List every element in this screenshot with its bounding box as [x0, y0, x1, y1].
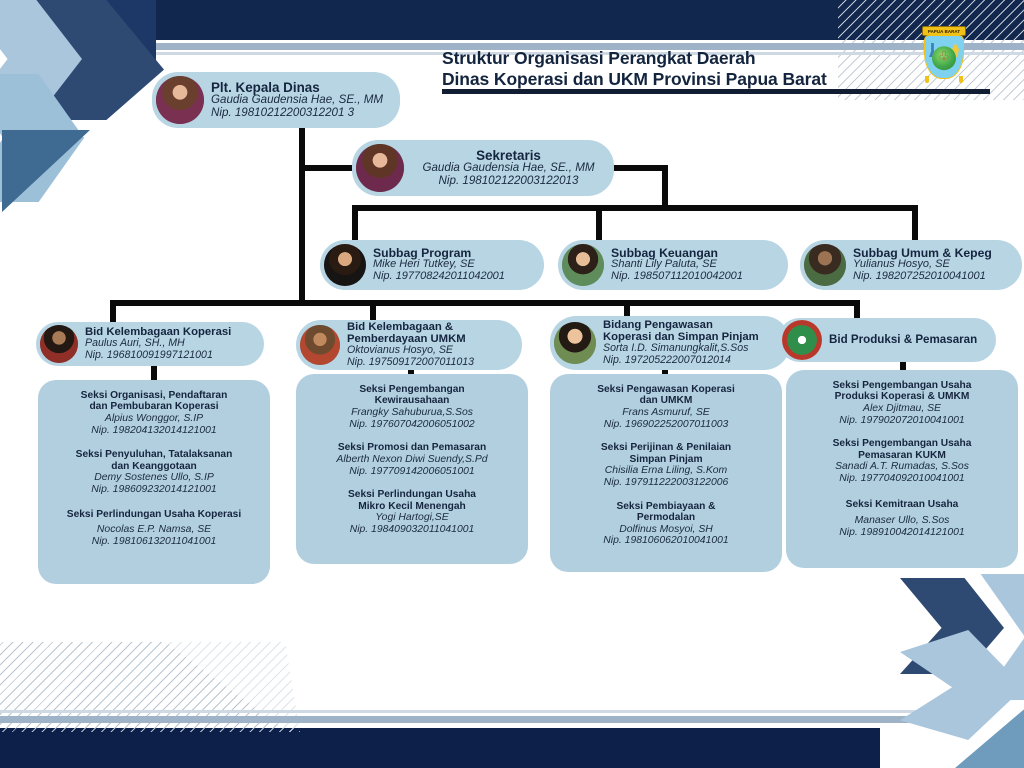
seksi-item: Seksi Pengembangan Usaha Produksi Kopera… [793, 380, 1011, 426]
seksi-panel-produksi-pemasaran: Seksi Pengembangan Usaha Produksi Kopera… [786, 370, 1018, 568]
connector-kepala-to-sekretaris [299, 165, 355, 171]
node-text: Plt. Kepala Dinas Gaudia Gaudensia Hae, … [204, 81, 400, 120]
avatar [804, 244, 846, 286]
seksi-title-line1: Seksi Organisasi, Pendaftaran [45, 390, 263, 401]
chevron-dark-right [900, 578, 1004, 674]
chevron-steel-right [955, 700, 1024, 768]
seksi-person-nip: Nip. 198910042014121001 [793, 527, 1011, 539]
emblem-bird-icon: ♧ [938, 50, 950, 63]
hatch-pattern-bottom-left-light [0, 642, 300, 732]
seksi-title-line1: Seksi Penyuluhan, Tatalaksanan [45, 449, 263, 460]
seksi-person-name: Alex Djitmau, SE [793, 403, 1011, 415]
seksi-item: Seksi Kemitraan Usaha Manaser Ullo, S.So… [793, 499, 1011, 539]
slide-canvas: Struktur Organisasi Perangkat Daerah Din… [0, 0, 1024, 768]
seksi-person-nip: Nip. 197607042006051002 [303, 419, 521, 431]
connector-subbag-bus [352, 205, 918, 211]
node-name: Sorta I.D. Simanungkalit,S.Sos [603, 343, 782, 354]
seksi-person-nip: Nip. 198106132011041001 [45, 536, 263, 548]
node-subbag-umum-kepeg[interactable]: Subbag Umum & Kepeg Yulianus Hosyo, SE N… [800, 240, 1022, 290]
papua-barat-emblem-icon: PAPUA BARAT ♧ [916, 26, 972, 86]
chevron-dark-left [36, 0, 164, 120]
title-underline [442, 89, 990, 94]
seksi-title-line1: Seksi Pengembangan Usaha [793, 438, 1011, 449]
avatar [356, 144, 404, 192]
node-nip: Nip. 197509172007011013 [347, 357, 514, 368]
node-plt-kepala-dinas[interactable]: Plt. Kepala Dinas Gaudia Gaudensia Hae, … [152, 72, 400, 128]
bottom-rule-light [0, 710, 916, 713]
node-role: Plt. Kepala Dinas [211, 81, 392, 95]
seksi-item: Seksi Pembiayaan & Permodalan Dolfinus M… [557, 501, 775, 547]
seksi-title-line2: dan Keanggotaan [45, 461, 263, 472]
chevron-steel-left [2, 130, 90, 212]
seksi-person-name: Dolfinus Mosyoi, SH [557, 524, 775, 536]
emblem-feet [922, 76, 966, 84]
connector-subbag-2-drop [596, 205, 602, 245]
chevron-light-left-lower [0, 74, 84, 202]
emblem-shield: ♧ [924, 35, 964, 79]
node-text: Subbag Keuangan Shanti Lily Paluta, SE N… [604, 247, 788, 283]
avatar [156, 76, 204, 124]
seksi-title-line1: Seksi Pengawasan Koperasi [557, 384, 775, 395]
node-sekretaris[interactable]: Sekretaris Gaudia Gaudensia Hae, SE., MM… [352, 140, 614, 196]
node-nip: Nip. 196810091997121001 [85, 350, 256, 361]
seksi-title-line2: Mikro Kecil Menengah [303, 501, 521, 512]
seksi-item: Seksi Promosi dan Pemasaran Alberth Nexo… [303, 442, 521, 477]
seksi-person-name: Alberth Nexon Diwi Suendy,S.Pd [303, 454, 521, 466]
node-text: Subbag Umum & Kepeg Yulianus Hosyo, SE N… [846, 247, 1022, 283]
seksi-person-nip: Nip. 198609232014121001 [45, 484, 263, 496]
seksi-person-nip: Nip. 198409032011041001 [303, 524, 521, 536]
node-name: Gaudia Gaudensia Hae, SE., MM [411, 162, 606, 175]
bottom-rule [0, 716, 916, 723]
avatar [40, 325, 78, 363]
seksi-title-line1: Seksi Perijinan & Penilaian [557, 442, 775, 453]
node-bid-kelembagaan-koperasi[interactable]: Bid Kelembagaan Koperasi Paulus Auri, SH… [36, 322, 264, 366]
node-nip: Nip. 197708242011042001 [373, 271, 536, 283]
avatar [300, 325, 340, 365]
seksi-title-line2: Permodalan [557, 512, 775, 523]
seksi-panel-kelembagaan-umkm: Seksi Pengembangan Kewirausahaan Frangky… [296, 374, 528, 564]
avatar [562, 244, 604, 286]
node-text: Bid Kelembagaan Koperasi Paulus Auri, SH… [78, 327, 264, 361]
connector-subbag-3-drop [912, 205, 918, 245]
seksi-item: Seksi Pengembangan Kewirausahaan Frangky… [303, 384, 521, 430]
page-title: Struktur Organisasi Perangkat Daerah Din… [442, 48, 912, 90]
node-role-line1: Bidang Pengawasan [603, 320, 782, 332]
node-text: Subbag Program Mike Heri Tutkey, SE Nip.… [366, 247, 544, 283]
node-nip: Nip. 198102122003122013 [411, 175, 606, 188]
seksi-title-line1: Seksi Pengembangan [303, 384, 521, 395]
seksi-person-nip: Nip. 196902252007011003 [557, 419, 775, 431]
seksi-item: Seksi Perlindungan Usaha Koperasi Nocola… [45, 509, 263, 548]
chevron-light-right [900, 630, 1024, 740]
title-line-2: Dinas Koperasi dan UKM Provinsi Papua Ba… [442, 69, 912, 90]
node-bid-kelembagaan-pemberdayaan-umkm[interactable]: Bid Kelembagaan & Pemberdayaan UMKM Okto… [296, 320, 522, 370]
node-text: Sekretaris Gaudia Gaudensia Hae, SE., MM… [404, 149, 614, 188]
seksi-person-nip: Nip. 198204132014121001 [45, 425, 263, 437]
seksi-title-line1: Seksi Pembiayaan & [557, 501, 775, 512]
seksi-person-name: Manaser Ullo, S.Sos [793, 515, 1011, 527]
seksi-person-name: Chisilia Erna Liling, S.Kom [557, 465, 775, 477]
seksi-title-line2: Produksi Koperasi & UMKM [793, 391, 1011, 402]
chevron-light-left-upper [0, 0, 82, 118]
avatar [324, 244, 366, 286]
seksi-person-nip: Nip. 197902072010041001 [793, 415, 1011, 427]
avatar [554, 322, 596, 364]
seksi-title-line1: Seksi Promosi dan Pemasaran [303, 442, 521, 453]
connector-sekretaris-down [662, 165, 668, 210]
seksi-title-line1: Seksi Perlindungan Usaha Koperasi [45, 509, 263, 520]
node-name: Oktovianus Hosyo, SE [347, 345, 514, 356]
seksi-person-nip: Nip. 197911222003122006 [557, 477, 775, 489]
seksi-title-line1: Seksi Pengembangan Usaha [793, 380, 1011, 391]
seksi-person-name: Frangky Sahuburua,S.Sos [303, 407, 521, 419]
seksi-person-name: Demy Sostenes Ullo, S.IP [45, 472, 263, 484]
seksi-person-name: Sanadi A.T. Rumadas, S.Sos [793, 461, 1011, 473]
logo-badge-icon [782, 320, 822, 360]
seksi-title-line2: dan UMKM [557, 395, 775, 406]
node-text: Bid Kelembagaan & Pemberdayaan UMKM Okto… [340, 322, 522, 368]
seksi-title-line2: Simpan Pinjam [557, 454, 775, 465]
node-role: Bid Produksi & Pemasaran [829, 334, 988, 346]
node-nip: Nip. 198207252010041001 [853, 271, 1014, 283]
seksi-title-line1: Seksi Kemitraan Usaha [793, 499, 1011, 510]
seksi-item: Seksi Pengembangan Usaha Pemasaran KUKM … [793, 438, 1011, 484]
seksi-person-nip: Nip. 197709142006051001 [303, 466, 521, 478]
seksi-title-line2: Kewirausahaan [303, 395, 521, 406]
seksi-item: Seksi Pengawasan Koperasi dan UMKM Frans… [557, 384, 775, 430]
node-role-line1: Bid Kelembagaan & [347, 322, 514, 334]
node-nip: Nip. 197205222007012014 [603, 355, 782, 366]
chevron-navy-block [36, 0, 156, 60]
seksi-item: Seksi Penyuluhan, Tatalaksanan dan Keang… [45, 449, 263, 495]
connector-subbag-1-drop [352, 205, 358, 245]
chevron-light-right-upper [935, 574, 1024, 700]
seksi-item: Seksi Perijinan & Penilaian Simpan Pinja… [557, 442, 775, 488]
node-subbag-keuangan[interactable]: Subbag Keuangan Shanti Lily Paluta, SE N… [558, 240, 788, 290]
seksi-person-name: Frans Asmuruf, SE [557, 407, 775, 419]
node-nip: Nip. 198507112010042001 [611, 271, 780, 283]
node-subbag-program[interactable]: Subbag Program Mike Heri Tutkey, SE Nip.… [320, 240, 544, 290]
seksi-person-name: Nocolas E.P. Namsa, SE [45, 524, 263, 536]
seksi-panel-pengawasan: Seksi Pengawasan Koperasi dan UMKM Frans… [550, 374, 782, 572]
hatch-pattern-bottom-left [0, 642, 300, 732]
seksi-item: Seksi Organisasi, Pendaftaran dan Pembub… [45, 390, 263, 436]
node-bidang-pengawasan-koperasi-simpan-pinjam[interactable]: Bidang Pengawasan Koperasi dan Simpan Pi… [550, 316, 790, 370]
seksi-title-line1: Seksi Perlindungan Usaha [303, 489, 521, 500]
connector-kepala-stem [299, 126, 305, 168]
seksi-person-name: Alpius Wonggor, S.IP [45, 413, 263, 425]
node-bid-produksi-pemasaran[interactable]: Bid Produksi & Pemasaran [778, 318, 996, 362]
seksi-item: Seksi Perlindungan Usaha Mikro Kecil Men… [303, 489, 521, 535]
seksi-title-line2: Pemasaran KUKM [793, 450, 1011, 461]
node-nip: Nip. 19810212200312201 3 [211, 107, 392, 120]
connector-kepala-long-stem [299, 165, 305, 305]
seksi-person-nip: Nip. 198106062010041001 [557, 535, 775, 547]
title-line-1: Struktur Organisasi Perangkat Daerah [442, 48, 912, 69]
navy-bottom-band [0, 728, 880, 768]
seksi-person-nip: Nip. 197704092010041001 [793, 473, 1011, 485]
seksi-panel-kelembagaan-koperasi: Seksi Organisasi, Pendaftaran dan Pembub… [38, 380, 270, 584]
node-name: Gaudia Gaudensia Hae, SE., MM [211, 94, 392, 107]
seksi-title-line2: dan Pembubaran Koperasi [45, 401, 263, 412]
node-text: Bid Produksi & Pemasaran [822, 334, 996, 346]
node-role: Sekretaris [411, 149, 606, 163]
navy-top-band [145, 0, 1024, 40]
connector-bidang-bus [110, 300, 860, 306]
node-text: Bidang Pengawasan Koperasi dan Simpan Pi… [596, 320, 790, 366]
seksi-person-name: Yogi Hartogi,SE [303, 512, 521, 524]
connector-sekretaris-right [612, 165, 668, 171]
